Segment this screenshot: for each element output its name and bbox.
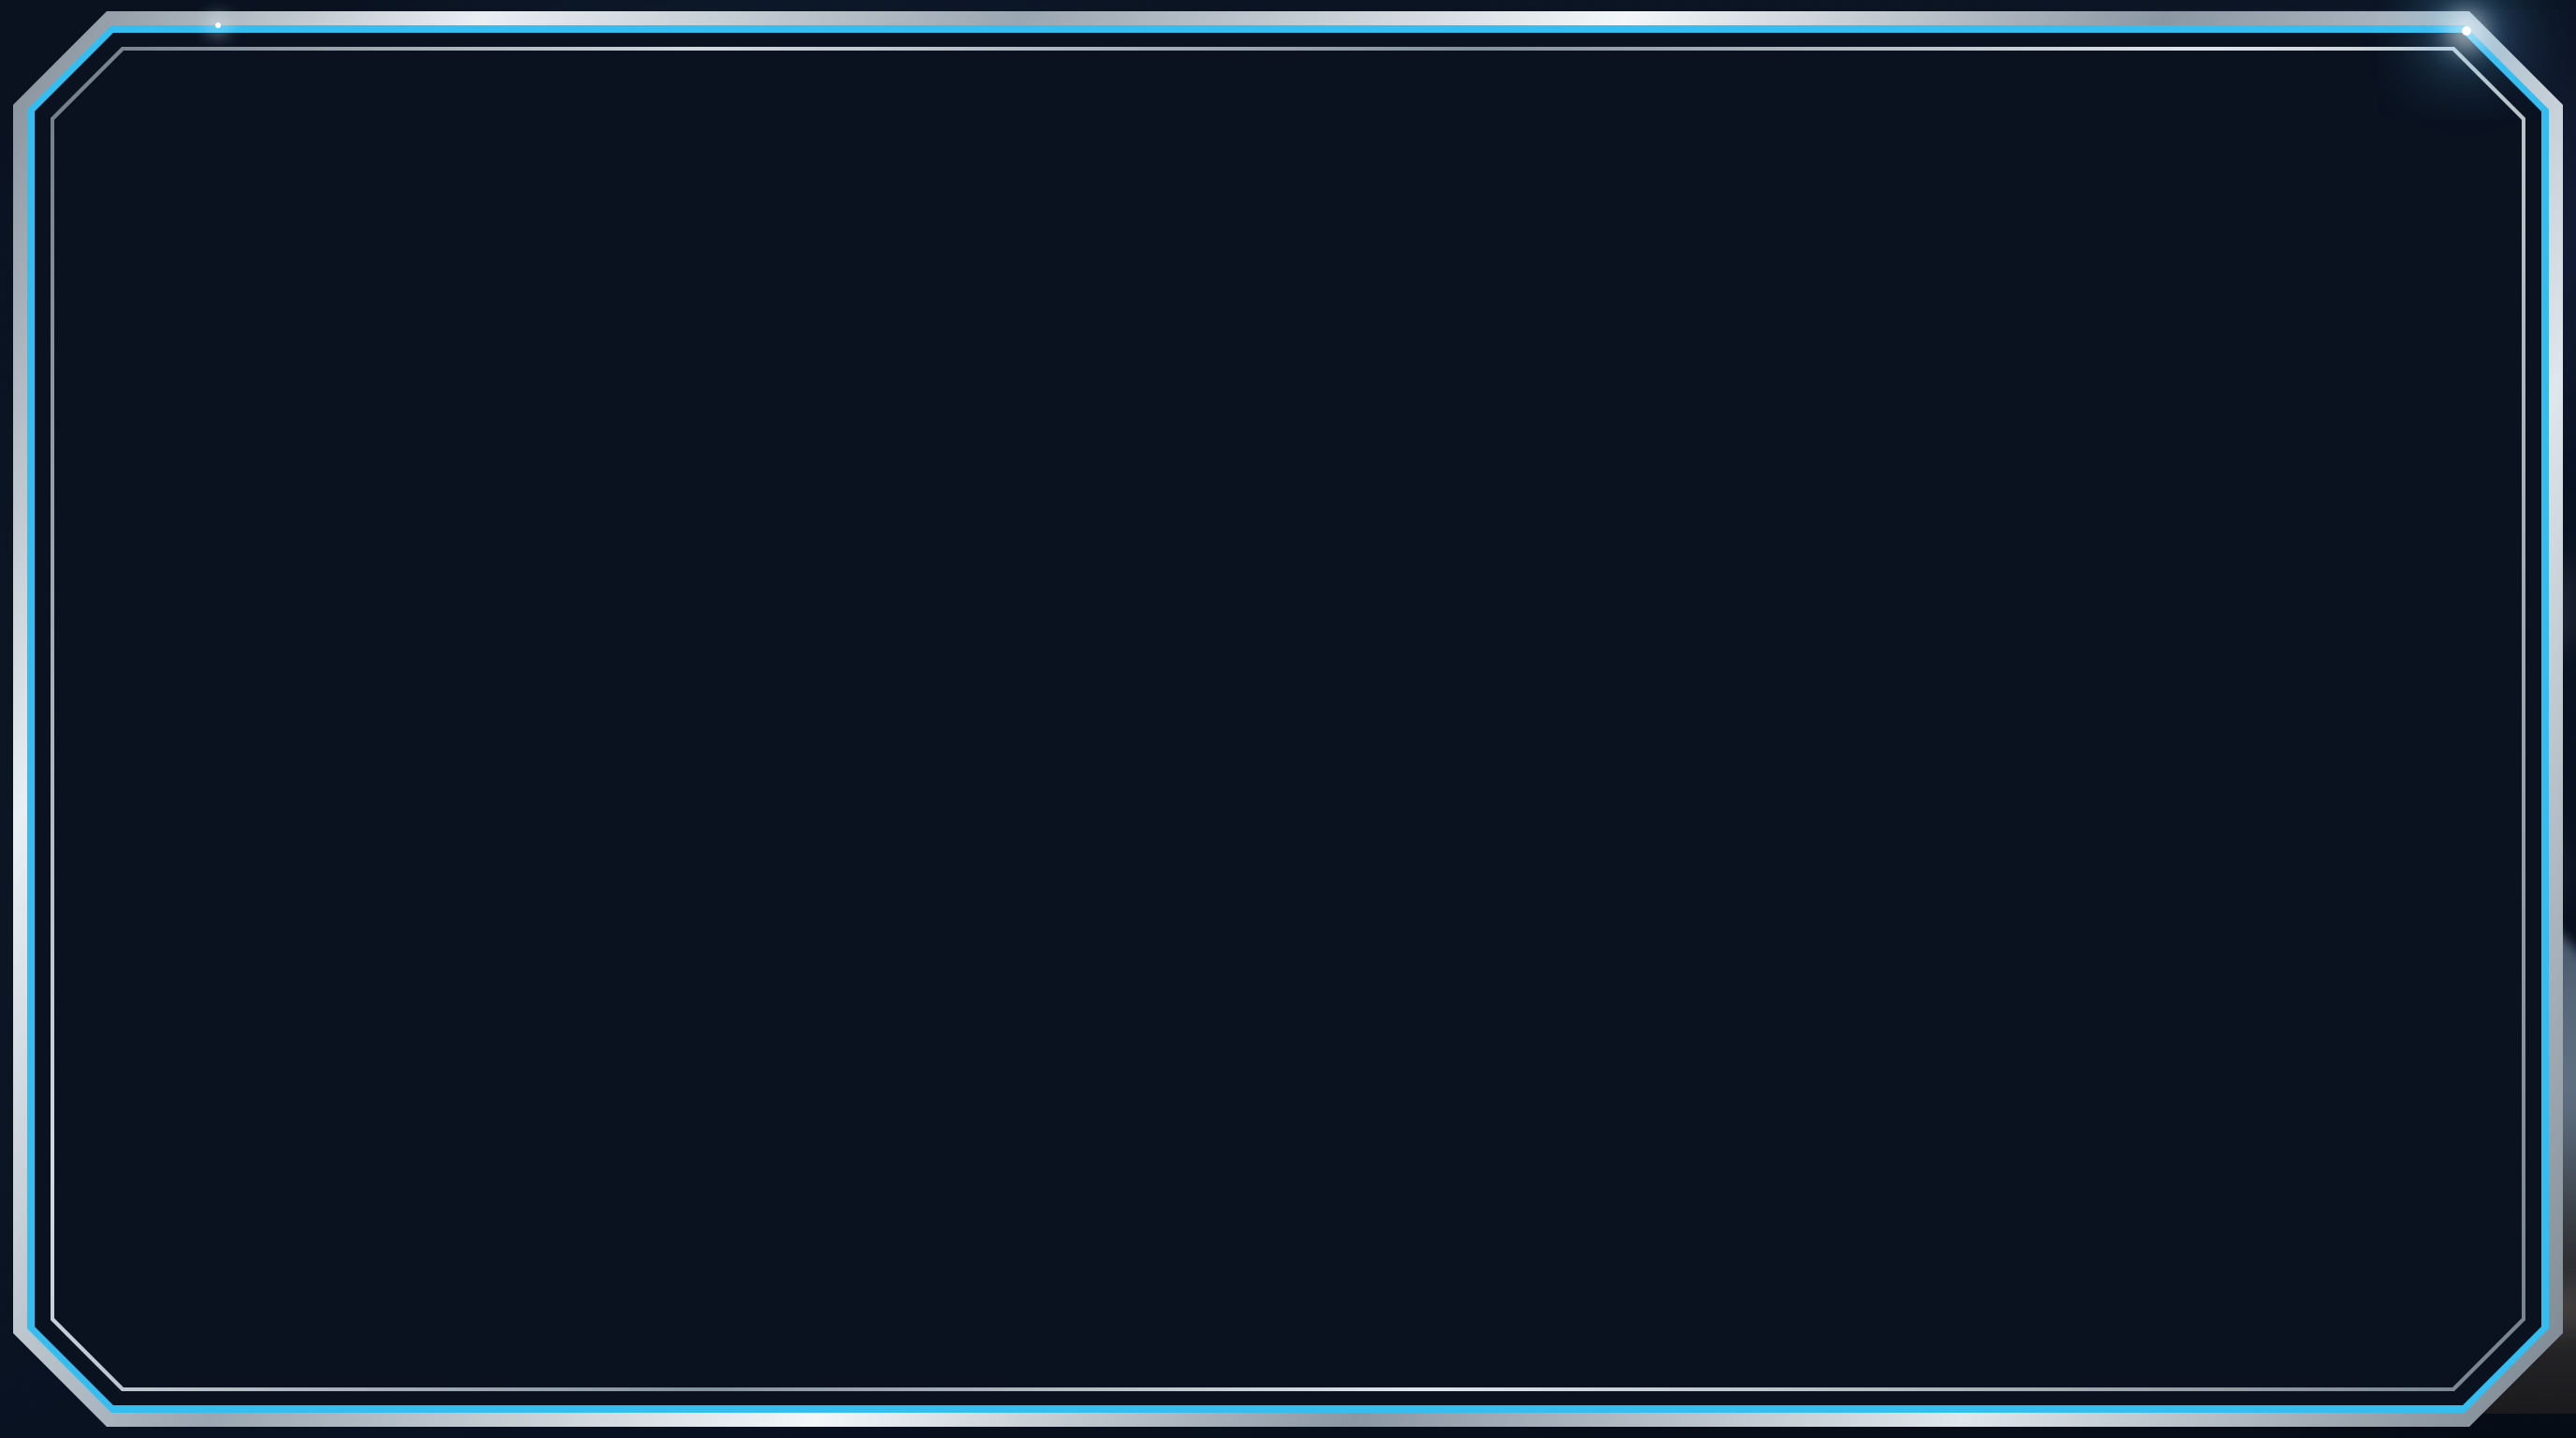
bullet-text: Lease IRRs: 12–18% — [202, 743, 645, 801]
hud-panel-lease-irr[interactable]: Lease IRRs: 12–18% ⌁ ▦▤▥ ▩ — [1678, 412, 2087, 688]
slide-title: AVIATION & AIRCRAFT LEASING—The Cash-Flo… — [140, 112, 1357, 359]
axis-tick-1: Feb — [1899, 1142, 1925, 1159]
bullet-text: CAGR: ~7% global leasing market — [202, 826, 914, 884]
axis-tick-5: Jun — [2199, 1132, 2222, 1149]
presentation-slide: Lease IRRs: 12–18% ⌁ ▦▤▥ ▩ 21C10G CIOOLX… — [0, 0, 2576, 1438]
hud-bar-chart-irr — [1831, 495, 2075, 672]
bullet-text: Airline ownership stakes & Commercial le… — [202, 603, 820, 719]
navigation-light-icon — [2439, 567, 2454, 582]
cagr-sublabel-line2: Market — [2161, 1050, 2224, 1074]
panel-row — [1449, 703, 1518, 711]
panel-row — [1570, 716, 1630, 724]
cagr-gauge[interactable]: CAGR: ~7% Global Leasing Market — [2048, 886, 2338, 1122]
engine-intake-icon — [2190, 723, 2263, 796]
axis-tick-4: May — [2124, 1134, 2151, 1151]
stat-label-1: CIOOLX — [1801, 883, 1867, 903]
title-lens-flare-2 — [543, 307, 550, 315]
title-lens-flare — [702, 120, 710, 127]
panel-row — [1447, 679, 1509, 686]
headline-line2: Counter-Cyclical Ballast — [140, 481, 1357, 549]
panel-row — [1755, 703, 1813, 711]
panel-row — [1663, 712, 1718, 720]
axis-tick-3: Apr — [2049, 1137, 2071, 1153]
bullet-dot-icon — [150, 923, 174, 947]
cagr-label: CAGR: — [2143, 934, 2244, 971]
list-item: CAGR: ~7% global leasing market — [140, 826, 1357, 884]
cagr-sublabel-line1: Global Leasing — [2125, 1027, 2262, 1050]
slide-headline: $290B+ Asset Base Provides Counter-Cycli… — [140, 414, 1357, 549]
slide-title-line1: AVIATION & AIRCRAFT — [140, 112, 1357, 195]
list-item: Lease IRRs: 12–18% — [140, 743, 1357, 801]
trend-arrow-icon — [1831, 495, 2075, 672]
slide-title-line2: LEASING—The Cash-Flow Backbone — [140, 195, 1357, 359]
panel-title-bar — [1442, 606, 1584, 621]
corner-lens-flare-icon-2 — [215, 22, 221, 28]
axis-tick-0: Jun — [1824, 1145, 1848, 1162]
cagr-sublabel: Global Leasing Market — [2125, 1027, 2262, 1074]
list-item: Airline ownership stakes & Commercial le… — [140, 603, 1357, 719]
bullet-dot-icon — [150, 758, 174, 783]
stat-label-0: 21C10G — [1800, 855, 1866, 875]
headline-line1: $290B+ Asset Base Provides — [140, 414, 1357, 481]
bullet-dot-icon — [150, 841, 174, 865]
panel-row — [1445, 653, 1528, 662]
bullet-list: Airline ownership stakes & Commercial le… — [140, 603, 1357, 966]
list-item: Counter-cyclical ballast to space volati… — [140, 908, 1357, 966]
bullet-dot-icon — [150, 618, 174, 642]
slide-text-content: AVIATION & AIRCRAFT LEASING—The Cash-Flo… — [140, 112, 1357, 990]
bullet-text: Counter-cyclical ballast to space volati… — [202, 908, 1053, 966]
axis-tick-2: Mar — [1974, 1139, 1999, 1156]
navigation-light-icon-2 — [2370, 904, 2385, 919]
cagr-value: ~7% — [2144, 969, 2243, 1025]
